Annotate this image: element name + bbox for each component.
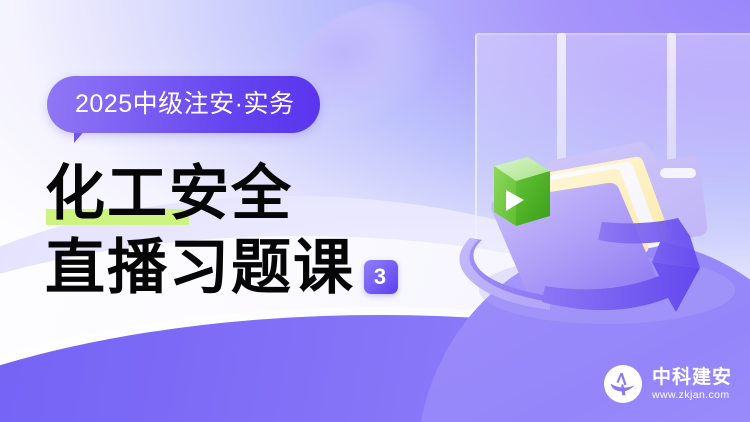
brand-website-url: www.zkjan.com — [652, 390, 732, 401]
course-category-tag[interactable]: 2025中级注安·实务 — [47, 76, 320, 133]
episode-number-badge: 3 — [364, 260, 398, 294]
course-banner: 2025中级注安·实务 化工安全 直播习题课 3 中科建安 www.zkjan.… — [0, 0, 750, 422]
brand-text-block: 中科建安 www.zkjan.com — [652, 368, 732, 401]
folder-tab-handle-icon — [660, 168, 696, 178]
course-title-line-1: 化工安全 — [45, 160, 398, 228]
course-title-line-1-text: 化工安全 — [45, 160, 293, 228]
course-title-line-2-text: 直播习题课 — [45, 234, 355, 302]
brand-name: 中科建安 — [652, 368, 732, 387]
brand-logo[interactable]: 中科建安 www.zkjan.com — [603, 364, 732, 404]
zkjan-circle-logo-icon — [603, 364, 643, 404]
play-cube-icon — [494, 157, 550, 226]
folder-documents-play-cube-illustration — [432, 40, 750, 340]
course-title-line-2: 直播习题课 3 — [45, 234, 398, 302]
course-title-block: 化工安全 直播习题课 3 — [45, 160, 398, 302]
course-category-tag-label: 2025中级注安·实务 — [75, 92, 294, 117]
